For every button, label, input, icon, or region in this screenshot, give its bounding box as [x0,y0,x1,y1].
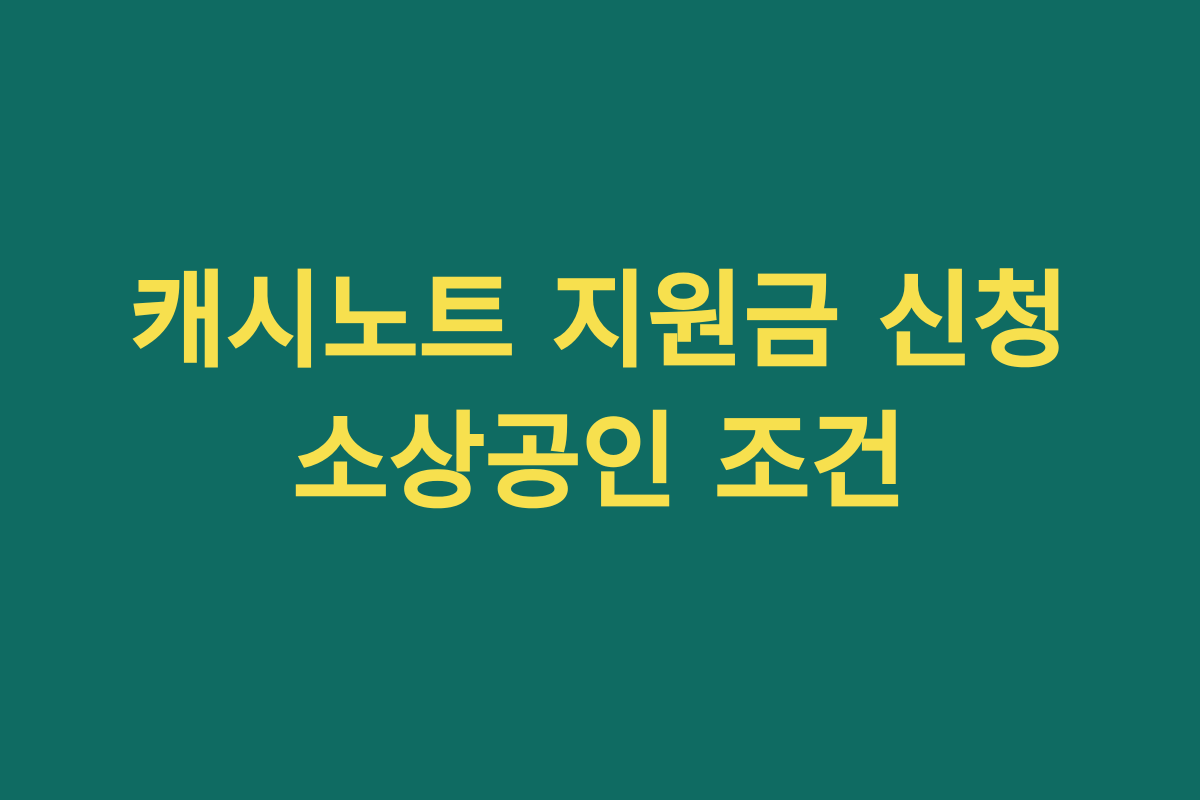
text-banner: 캐시노트 지원금 신청 소상공인 조건 캐시노트 지원금 신청 소 상공인 조건 [0,0,1200,800]
banner-headline: 캐시노트 지원금 신청 소상공인 조건 [40,251,1160,534]
headline-block: 캐시노트 지원금 신청 소상공인 조건 [40,251,1160,534]
